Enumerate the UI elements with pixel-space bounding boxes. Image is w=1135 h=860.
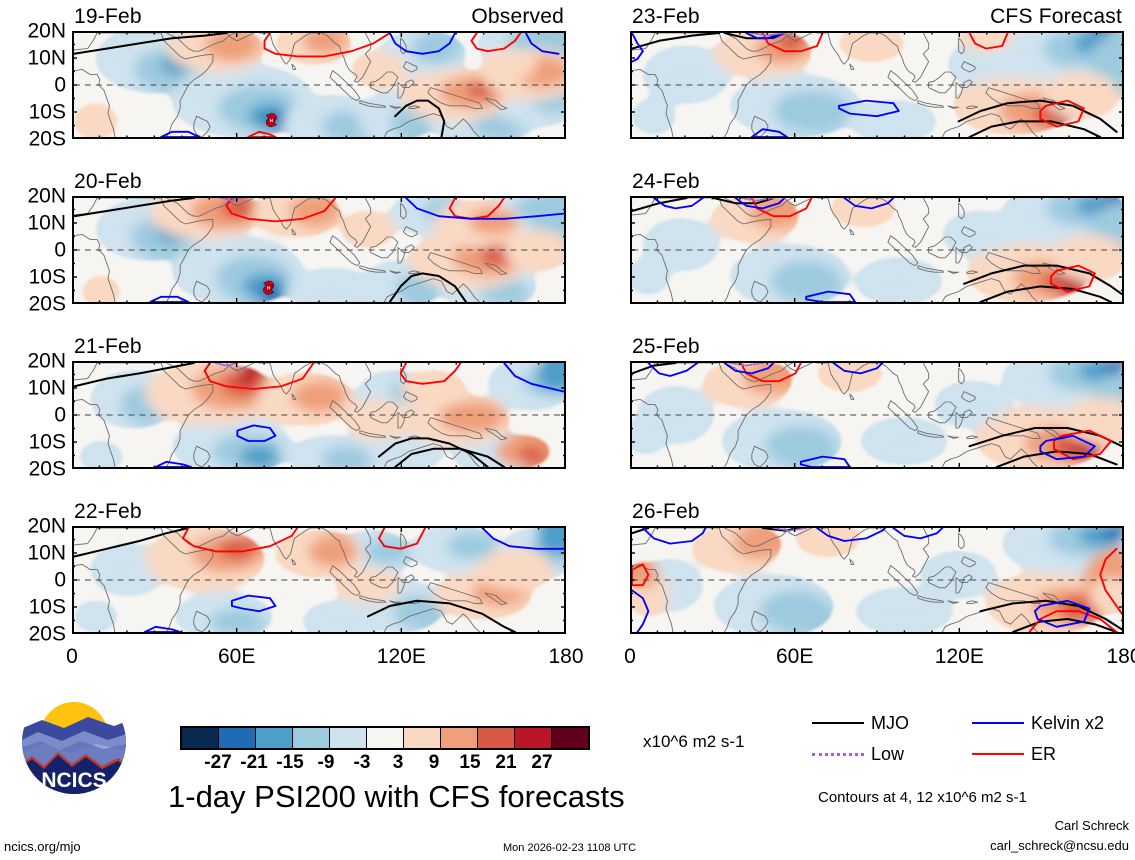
- y-tick-label: 20S: [29, 624, 66, 645]
- map-frame: H: [72, 31, 566, 139]
- x-tick-label: 0: [66, 646, 78, 667]
- contour-note: Contours at 4, 12 x10^6 m2 s-1: [818, 790, 1027, 805]
- map-frame: [630, 526, 1124, 634]
- map-frame: [630, 361, 1124, 469]
- x-tick-label: 60E: [776, 646, 813, 667]
- colorbar-unit-label: x10^6 m2 s-1: [643, 733, 745, 750]
- legend-line-swatch: [972, 722, 1024, 724]
- map-panel-26-feb: 26-Feb: [630, 526, 1124, 634]
- colorbar-ticks: -27-21-15-9-339152127: [180, 753, 580, 777]
- legend-label: Kelvin x2: [1031, 714, 1104, 732]
- x-tick-label: 60E: [218, 646, 255, 667]
- contour-legend: MJOKelvin x2LowER: [812, 714, 1112, 776]
- y-tick-label: 10S: [29, 102, 66, 123]
- y-tick-label: 10N: [27, 213, 66, 234]
- svg-text:H: H: [267, 286, 270, 291]
- panel-date-label: 22-Feb: [74, 501, 142, 522]
- y-tick-label: 20N: [27, 351, 66, 372]
- map-panel-19-feb: 19-FebObservedH: [72, 31, 566, 139]
- panel-date-label: 19-Feb: [74, 6, 142, 27]
- legend-line-swatch: [812, 722, 864, 724]
- map-panel-25-feb: 25-Feb: [630, 361, 1124, 469]
- y-tick-label: 0: [54, 75, 66, 96]
- panel-date-label: 20-Feb: [74, 171, 142, 192]
- x-tick-label: 180: [548, 646, 583, 667]
- map-panel-24-feb: 24-Feb: [630, 196, 1124, 304]
- y-tick-label: 20N: [27, 516, 66, 537]
- legend-item-mjo: MJO: [812, 714, 909, 732]
- y-tick-label: 20N: [27, 21, 66, 42]
- footer-site-link[interactable]: ncics.org/mjo: [4, 840, 81, 853]
- column-header-right: CFS Forecast: [990, 6, 1122, 27]
- map-panel-20-feb: 20-FebH: [72, 196, 566, 304]
- svg-text:NCICS: NCICS: [41, 769, 106, 792]
- y-tick-label: 20S: [29, 129, 66, 150]
- legend-line-swatch: [812, 753, 864, 756]
- map-field-svg: [632, 363, 1122, 467]
- footer-author: Carl Schreck: [1055, 819, 1129, 832]
- y-tick-label: 10N: [27, 48, 66, 69]
- map-field-svg: [74, 363, 564, 467]
- column-header-left: Observed: [471, 6, 564, 27]
- colorbar-swatch: [478, 728, 515, 748]
- colorbar-swatch: [330, 728, 367, 748]
- x-axis-labels-right: 060E120E180: [630, 646, 1124, 672]
- y-tick-label: 0: [54, 570, 66, 591]
- colorbar-swatch: [515, 728, 552, 748]
- ncics-logo-svg: NCICS: [18, 686, 130, 798]
- map-field-svg: [74, 528, 564, 632]
- map-field-svg: H: [74, 198, 564, 302]
- cyclone-marker-icon: H: [263, 281, 273, 294]
- colorbar-swatch: [219, 728, 256, 748]
- cyclone-marker-icon: H: [266, 113, 276, 126]
- legend-item-er: ER: [972, 745, 1056, 763]
- main-title: 1-day PSI200 with CFS forecasts: [168, 781, 625, 812]
- footer-timestamp: Mon 2026-02-23 1108 UTC: [503, 843, 636, 854]
- map-panel-23-feb: 23-FebCFS Forecast: [630, 31, 1124, 139]
- map-panel-21-feb: 21-Feb: [72, 361, 566, 469]
- colorbar-tick-label: 15: [459, 753, 480, 772]
- colorbar-tick-label: 21: [495, 753, 516, 772]
- map-frame: [72, 361, 566, 469]
- map-frame: [72, 526, 566, 634]
- x-axis-labels-left: 060E120E180: [72, 646, 566, 672]
- colorbar-tick-label: 9: [429, 753, 440, 772]
- x-tick-label: 180: [1106, 646, 1135, 667]
- y-tick-label: 10S: [29, 432, 66, 453]
- y-tick-label: 10N: [27, 543, 66, 564]
- panel-date-label: 23-Feb: [632, 6, 700, 27]
- map-field-svg: H: [74, 33, 564, 137]
- ncics-logo: NCICS: [18, 686, 130, 798]
- y-axis-labels-row-1: 20N10N010S20S: [2, 196, 66, 304]
- y-tick-label: 0: [54, 405, 66, 426]
- svg-text:H: H: [270, 118, 273, 123]
- y-tick-label: 20S: [29, 459, 66, 480]
- panel-date-label: 21-Feb: [74, 336, 142, 357]
- footer-email[interactable]: carl_schreck@ncsu.edu: [990, 839, 1129, 852]
- colorbar: [180, 726, 590, 750]
- colorbar-swatch: [256, 728, 293, 748]
- y-tick-label: 10S: [29, 267, 66, 288]
- y-tick-label: 0: [54, 240, 66, 261]
- panel-date-label: 24-Feb: [632, 171, 700, 192]
- legend-label: Low: [871, 745, 904, 763]
- y-axis-labels-row-2: 20N10N010S20S: [2, 361, 66, 469]
- map-frame: [630, 31, 1124, 139]
- y-tick-label: 10S: [29, 597, 66, 618]
- y-tick-label: 20S: [29, 294, 66, 315]
- colorbar-tick-label: 27: [531, 753, 552, 772]
- x-tick-label: 0: [624, 646, 636, 667]
- legend-label: MJO: [871, 714, 909, 732]
- legend-item-kelvin-x2: Kelvin x2: [972, 714, 1104, 732]
- y-tick-label: 10N: [27, 378, 66, 399]
- panel-date-label: 25-Feb: [632, 336, 700, 357]
- colorbar-swatch: [552, 728, 588, 748]
- legend-item-low: Low: [812, 745, 904, 763]
- legend-line-swatch: [972, 753, 1024, 755]
- map-panel-22-feb: 22-Feb: [72, 526, 566, 634]
- x-tick-label: 120E: [377, 646, 426, 667]
- map-field-svg: [632, 198, 1122, 302]
- colorbar-tick-label: -27: [204, 753, 231, 772]
- map-field-svg: [632, 528, 1122, 632]
- colorbar-swatch: [293, 728, 330, 748]
- colorbar-swatch: [182, 728, 219, 748]
- x-tick-label: 120E: [935, 646, 984, 667]
- colorbar-tick-label: -15: [276, 753, 303, 772]
- y-axis-labels-row-0: 20N10N010S20S: [2, 31, 66, 139]
- map-field-svg: [632, 33, 1122, 137]
- y-axis-labels-row-3: 20N10N010S20S: [2, 526, 66, 634]
- map-frame: H: [72, 196, 566, 304]
- colorbar-tick-label: -21: [240, 753, 267, 772]
- legend-label: ER: [1031, 745, 1056, 763]
- colorbar-swatch: [404, 728, 441, 748]
- panel-date-label: 26-Feb: [632, 501, 700, 522]
- colorbar-swatch: [441, 728, 478, 748]
- y-tick-label: 20N: [27, 186, 66, 207]
- colorbar-tick-label: -9: [318, 753, 335, 772]
- colorbar-tick-label: -3: [354, 753, 371, 772]
- figure-root: 19-FebObservedH20-FebH21-Feb22-Feb23-Feb…: [0, 0, 1135, 860]
- map-frame: [630, 196, 1124, 304]
- colorbar-tick-label: 3: [393, 753, 404, 772]
- colorbar-swatch: [367, 728, 404, 748]
